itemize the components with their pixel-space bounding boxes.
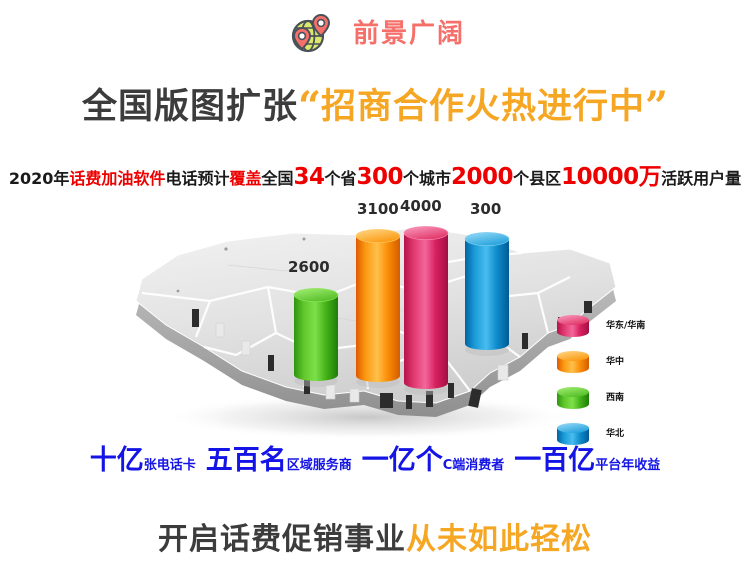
quote-open: “ [298,83,321,130]
bar-label-north: 300 [470,202,501,217]
subtitle-users-unit: 活跃用户量 [661,169,741,188]
subtitle-cities-unit: 个城市 [403,169,451,188]
stat-2-unit: 区域服务商 [287,458,352,473]
chart-legend: 华东/华南 华中 西南 华北 [556,308,706,452]
footer-dark: 开启话费促销事业 [158,522,406,557]
badge-label: 前景广阔 [353,21,465,47]
stat-4-value: 一百亿 [514,445,595,476]
legend-swatch-pink [556,314,590,338]
legend-label-central: 华中 [606,358,624,367]
legend-item-southwest[interactable]: 西南 [556,380,706,416]
subtitle-counties-unit: 个县区 [513,169,561,188]
badge-header: 前景广阔 [0,8,750,60]
footer-tagline: 开启话费促销事业从未如此轻松 [0,522,750,558]
legend-label-north: 华北 [606,430,624,439]
subtitle-provinces-value: 34 [293,164,324,190]
page-title: 全国版图扩张“招商合作火热进行中” [0,85,750,129]
stat-1-value: 十亿 [90,445,144,476]
subtitle-provinces-unit: 个省 [325,169,357,188]
legend-swatch-orange [556,350,590,374]
bar-cylinder-north [464,227,510,357]
globe-location-icon [285,9,335,59]
bar-label-east-south: 4000 [400,199,442,214]
stat-2-value: 五百名 [206,445,287,476]
headline-orange: 招商合作火热进行中 [321,87,645,127]
bar-cylinder-east-south [403,221,449,396]
legend-item-east-south[interactable]: 华东/华南 [556,308,706,344]
subtitle-cover: 覆盖 [229,169,261,188]
stats-row: 十亿张电话卡五百名区域服务商一亿个C端消费者一百亿平台年收益 [0,447,750,474]
subtitle-counties-value: 2000 [451,164,513,190]
legend-item-central[interactable]: 华中 [556,344,706,380]
stat-4-unit: 平台年收益 [595,458,660,473]
subtitle-nationwide: 全国 [261,169,293,188]
subtitle-phone-forecast: 电话预计 [165,169,229,188]
subtitle-users-value: 10000万 [561,164,661,190]
bar-label-central: 3100 [357,202,399,217]
bar-label-southwest: 2600 [288,260,330,275]
stat-3-unit: C端消费者 [443,458,505,473]
subtitle-year: 2020年 [9,169,70,188]
subtitle-cities-value: 300 [357,164,404,190]
poster-root: 前景广阔 全国版图扩张“招商合作火热进行中” 2020年话费加油软件电话预计覆盖… [0,0,750,575]
stat-1-unit: 张电话卡 [144,458,196,473]
legend-swatch-green [556,386,590,410]
footer-orange: 从未如此轻松 [406,522,592,557]
bar-cylinder-central [355,224,401,389]
legend-swatch-blue [556,422,590,446]
subtitle-line: 2020年话费加油软件电话预计覆盖全国34个省300个城市2000个县区1000… [0,166,750,189]
quote-close: ” [645,83,668,130]
stat-3-value: 一亿个 [362,445,443,476]
legend-label-southwest: 西南 [606,394,624,403]
subtitle-product: 话费加油软件 [69,169,165,188]
bar-cylinder-southwest [293,283,339,388]
legend-label-east-south: 华东/华南 [606,322,645,331]
headline-dark: 全国版图扩张 [82,87,298,127]
